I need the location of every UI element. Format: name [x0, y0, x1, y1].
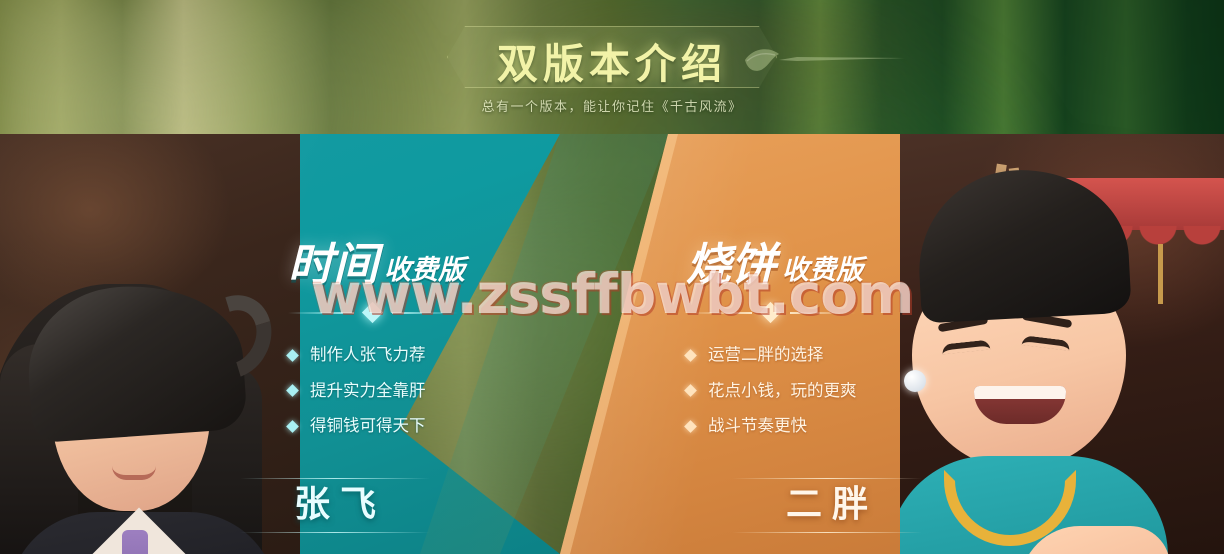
diamond-icon — [362, 302, 383, 323]
feature-list-shaobing: 运营二胖的选择 花点小钱，玩的更爽 战斗节奏更快 — [686, 347, 936, 435]
diamond-bullet-icon — [286, 349, 299, 362]
character-name: 张飞 — [240, 479, 430, 532]
version-title-shaobing: 烧饼 收费版 — [686, 242, 936, 287]
version-block-time: 时间 收费版 制作人张飞力荐 提升实力全靠肝 得铜钱可得天 — [288, 242, 538, 454]
feature-text: 花点小钱，玩的更爽 — [708, 383, 857, 400]
panel-content: 时间 收费版 制作人张飞力荐 提升实力全靠肝 得铜钱可得天 — [0, 0, 1224, 554]
character-name: 二胖 — [732, 479, 922, 532]
version-tag: 收费版 — [782, 257, 863, 287]
nameplate-erpang: 二胖 — [732, 478, 922, 533]
list-item: 提升实力全靠肝 — [288, 383, 538, 400]
list-item: 得铜钱可得天下 — [288, 418, 538, 435]
list-item: 花点小钱，玩的更爽 — [686, 383, 936, 400]
diamond-bullet-icon — [684, 384, 697, 397]
nameplate-rule-bottom — [732, 532, 922, 533]
diamond-bullet-icon — [684, 420, 697, 433]
list-item: 战斗节奏更快 — [686, 418, 936, 435]
feature-text: 战斗节奏更快 — [708, 418, 807, 435]
diamond-icon — [760, 302, 781, 323]
divider-line-right — [790, 312, 856, 314]
version-name: 烧饼 — [686, 242, 776, 287]
list-item: 运营二胖的选择 — [686, 347, 936, 364]
diamond-bullet-icon — [684, 349, 697, 362]
list-item: 制作人张飞力荐 — [288, 347, 538, 364]
divider-line-left — [288, 312, 354, 314]
promo-banner: 双版本介绍 总有一个版本，能让你记住《千古风流》 — [0, 0, 1224, 554]
feature-text: 制作人张飞力荐 — [310, 347, 426, 364]
version-title-time: 时间 收费版 — [288, 242, 538, 287]
divider-line-right — [392, 312, 458, 314]
diamond-bullet-icon — [286, 384, 299, 397]
feature-text: 提升实力全靠肝 — [310, 383, 426, 400]
nameplate-rule-bottom — [240, 532, 430, 533]
diamond-bullet-icon — [286, 420, 299, 433]
version-name: 时间 — [288, 242, 378, 287]
nameplate-zhangfei: 张飞 — [240, 478, 430, 533]
title-divider-left — [288, 303, 458, 321]
feature-text: 得铜钱可得天下 — [310, 418, 426, 435]
version-block-shaobing: 烧饼 收费版 运营二胖的选择 花点小钱，玩的更爽 战斗节奏 — [686, 242, 936, 454]
title-divider-right — [686, 303, 856, 321]
feature-text: 运营二胖的选择 — [708, 347, 824, 364]
feature-list-time: 制作人张飞力荐 提升实力全靠肝 得铜钱可得天下 — [288, 347, 538, 435]
divider-line-left — [686, 312, 752, 314]
version-tag: 收费版 — [384, 257, 465, 287]
